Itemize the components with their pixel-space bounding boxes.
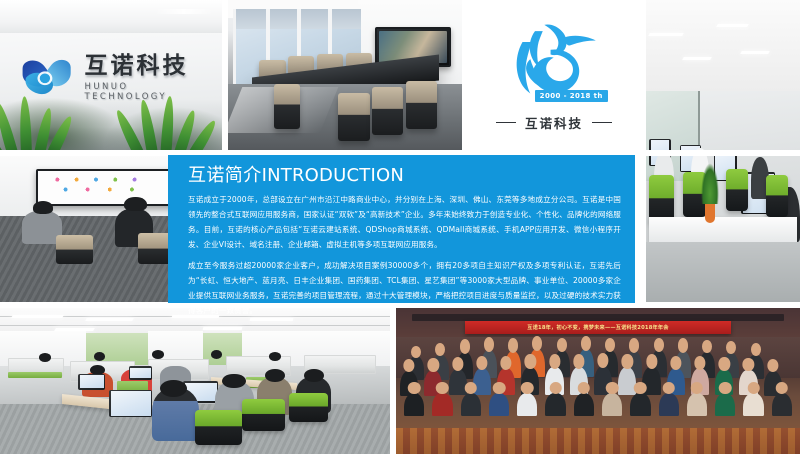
desk-plant-icon — [705, 196, 716, 223]
training-chair — [56, 235, 94, 264]
gutter — [222, 0, 228, 150]
office-ceiling — [646, 0, 800, 91]
group-crowd — [396, 340, 800, 431]
workstation-monitor — [129, 366, 152, 379]
introduction-paragraph: 互诺成立于2000年，总部设立在广州市沿江中路商业中心，并分别在上海、深圳、佛山… — [188, 193, 621, 252]
wall-logo-text: 互诺科技 HUNUO TECHNOLOGY — [85, 54, 209, 101]
lobby-ceiling — [0, 0, 222, 33]
company-profile-collage: 互诺科技 HUNUO TECHNOLOGY — [0, 0, 800, 454]
office-chair — [766, 175, 788, 217]
anniversary-18-logo-icon: 2000 - 2018 th — [496, 18, 613, 105]
meeting-chair — [372, 87, 403, 135]
workstation-monitor — [109, 390, 152, 418]
introduction-panel: 互诺简介INTRODUCTION 互诺成立于2000年，总部设立在广州市沿江中路… — [168, 155, 635, 303]
panel-anniversary-logo: 2000 - 2018 th 互诺科技 — [468, 0, 640, 150]
photo-lobby-logo-wall: 互诺科技 HUNUO TECHNOLOGY — [0, 0, 222, 150]
office-floor — [646, 242, 800, 302]
anniversary-name-text: 互诺科技 — [525, 113, 583, 132]
employee-head — [269, 352, 281, 361]
introduction-title-en: INTRODUCTION — [262, 165, 404, 186]
rule-left — [496, 122, 516, 124]
introduction-title-cn: 互诺简介 — [188, 165, 262, 186]
lobby-plant-left-icon — [0, 95, 70, 150]
photo-open-office — [0, 308, 390, 454]
employee-head — [222, 374, 245, 389]
photo-annual-meeting-group: 互诺18年，初心不变，携梦未来——互诺科技2018年年会 — [396, 308, 800, 454]
office-chair — [726, 169, 748, 211]
banquet-floor-carpet — [396, 428, 800, 454]
anniversary-year-badge: 2000 - 2018 th — [535, 90, 608, 102]
office-chair — [289, 393, 328, 422]
lobby-plant-right-icon — [133, 99, 208, 150]
office-chair — [649, 175, 674, 223]
meeting-chair — [274, 84, 300, 129]
anniversary-company-name: 互诺科技 — [496, 113, 612, 132]
cubicle-accent — [8, 372, 63, 378]
employee-head — [160, 380, 187, 398]
meeting-chair — [406, 81, 437, 129]
employee-head — [39, 353, 51, 362]
training-person-head — [124, 197, 146, 212]
rule-right — [592, 122, 612, 124]
introduction-paragraph: 成立至今服务过超20000家企业客户，成功解决项目案例30000多个，拥有20多… — [188, 259, 621, 318]
office-chair — [242, 399, 285, 431]
introduction-title: 互诺简介INTRODUCTION — [188, 166, 621, 186]
wall-sign-cn: 互诺科技 — [85, 54, 209, 78]
gutter — [390, 308, 396, 454]
training-person-head — [33, 201, 53, 214]
introduction-body: 互诺成立于2000年，总部设立在广州市沿江中路商业中心，并分别在上海、深圳、佛山… — [188, 193, 621, 318]
event-banner-text: 互诺18年，初心不变，携梦未来——互诺科技2018年年会 — [527, 324, 668, 331]
meeting-chair — [338, 93, 369, 141]
employee-head — [152, 350, 164, 359]
gutter — [462, 0, 468, 150]
employee-head — [94, 352, 106, 361]
workstation-monitor — [78, 374, 105, 390]
photo-meeting-room — [228, 0, 468, 150]
office-chair — [195, 410, 242, 445]
training-wall-display — [36, 169, 178, 206]
event-banner: 互诺18年，初心不变，携梦未来——互诺科技2018年年会 — [465, 321, 732, 334]
